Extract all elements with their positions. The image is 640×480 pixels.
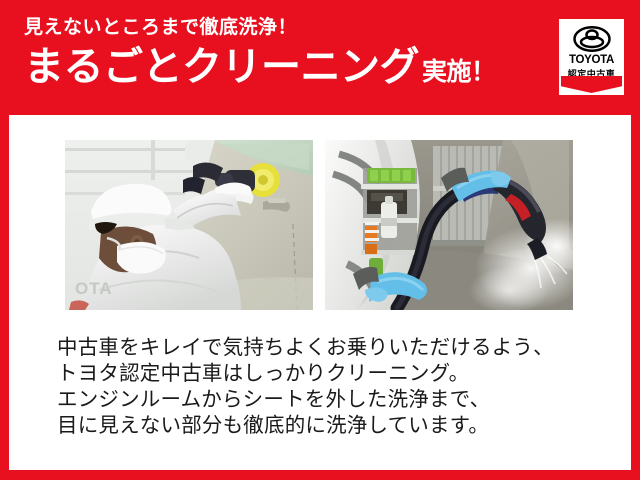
body-copy-line: エンジンルームからシートを外した洗浄まで、 [57, 387, 602, 413]
body-copy-line: 目に見えない部分も徹底的に洗浄しています。 [57, 413, 602, 439]
car-polishing-photo: OTA [65, 140, 313, 310]
photo-exterior-polishing: OTA [65, 140, 313, 310]
seat-steam-cleaning-photo [325, 140, 573, 310]
headline-block: 見えないところまで徹底洗浄！ まるごとクリーニング 実施！ [24, 18, 524, 87]
toyota-ellipse-emblem-icon [573, 26, 611, 52]
svg-text:OTA: OTA [75, 279, 113, 298]
headline-suffix-text: 実施！ [422, 60, 496, 87]
kicker-text: 見えないところまで徹底洗浄！ [24, 18, 524, 39]
photo-interior-steam-cleaning [325, 140, 573, 310]
poster-header-band: 見えないところまで徹底洗浄！ まるごとクリーニング 実施！ TOYOTA 認定中… [0, 0, 640, 115]
badge-wordmark-text: TOYOTA [561, 54, 622, 66]
body-copy-line: トヨタ認定中古車はしっかりクリーニング。 [57, 361, 602, 387]
badge-inner-panel: TOYOTA 認定中古車 [561, 21, 622, 93]
body-copy: 中古車をキレイで気持ちよくお乗りいただけるよう、 トヨタ認定中古車はしっかりクリ… [57, 335, 602, 439]
headline-main-text: まるごとクリーニング [24, 47, 419, 87]
headline-row: まるごとクリーニング 実施！ [24, 47, 524, 87]
body-copy-line: 中古車をキレイで気持ちよくお乗りいただけるよう、 [57, 335, 602, 361]
content-card: OTA [9, 115, 631, 470]
badge-chevron-shape [561, 76, 622, 93]
photo-row: OTA [65, 140, 573, 310]
promo-poster: 見えないところまで徹底洗浄！ まるごとクリーニング 実施！ TOYOTA 認定中… [0, 0, 640, 480]
toyota-certified-badge: TOYOTA 認定中古車 [559, 19, 624, 95]
